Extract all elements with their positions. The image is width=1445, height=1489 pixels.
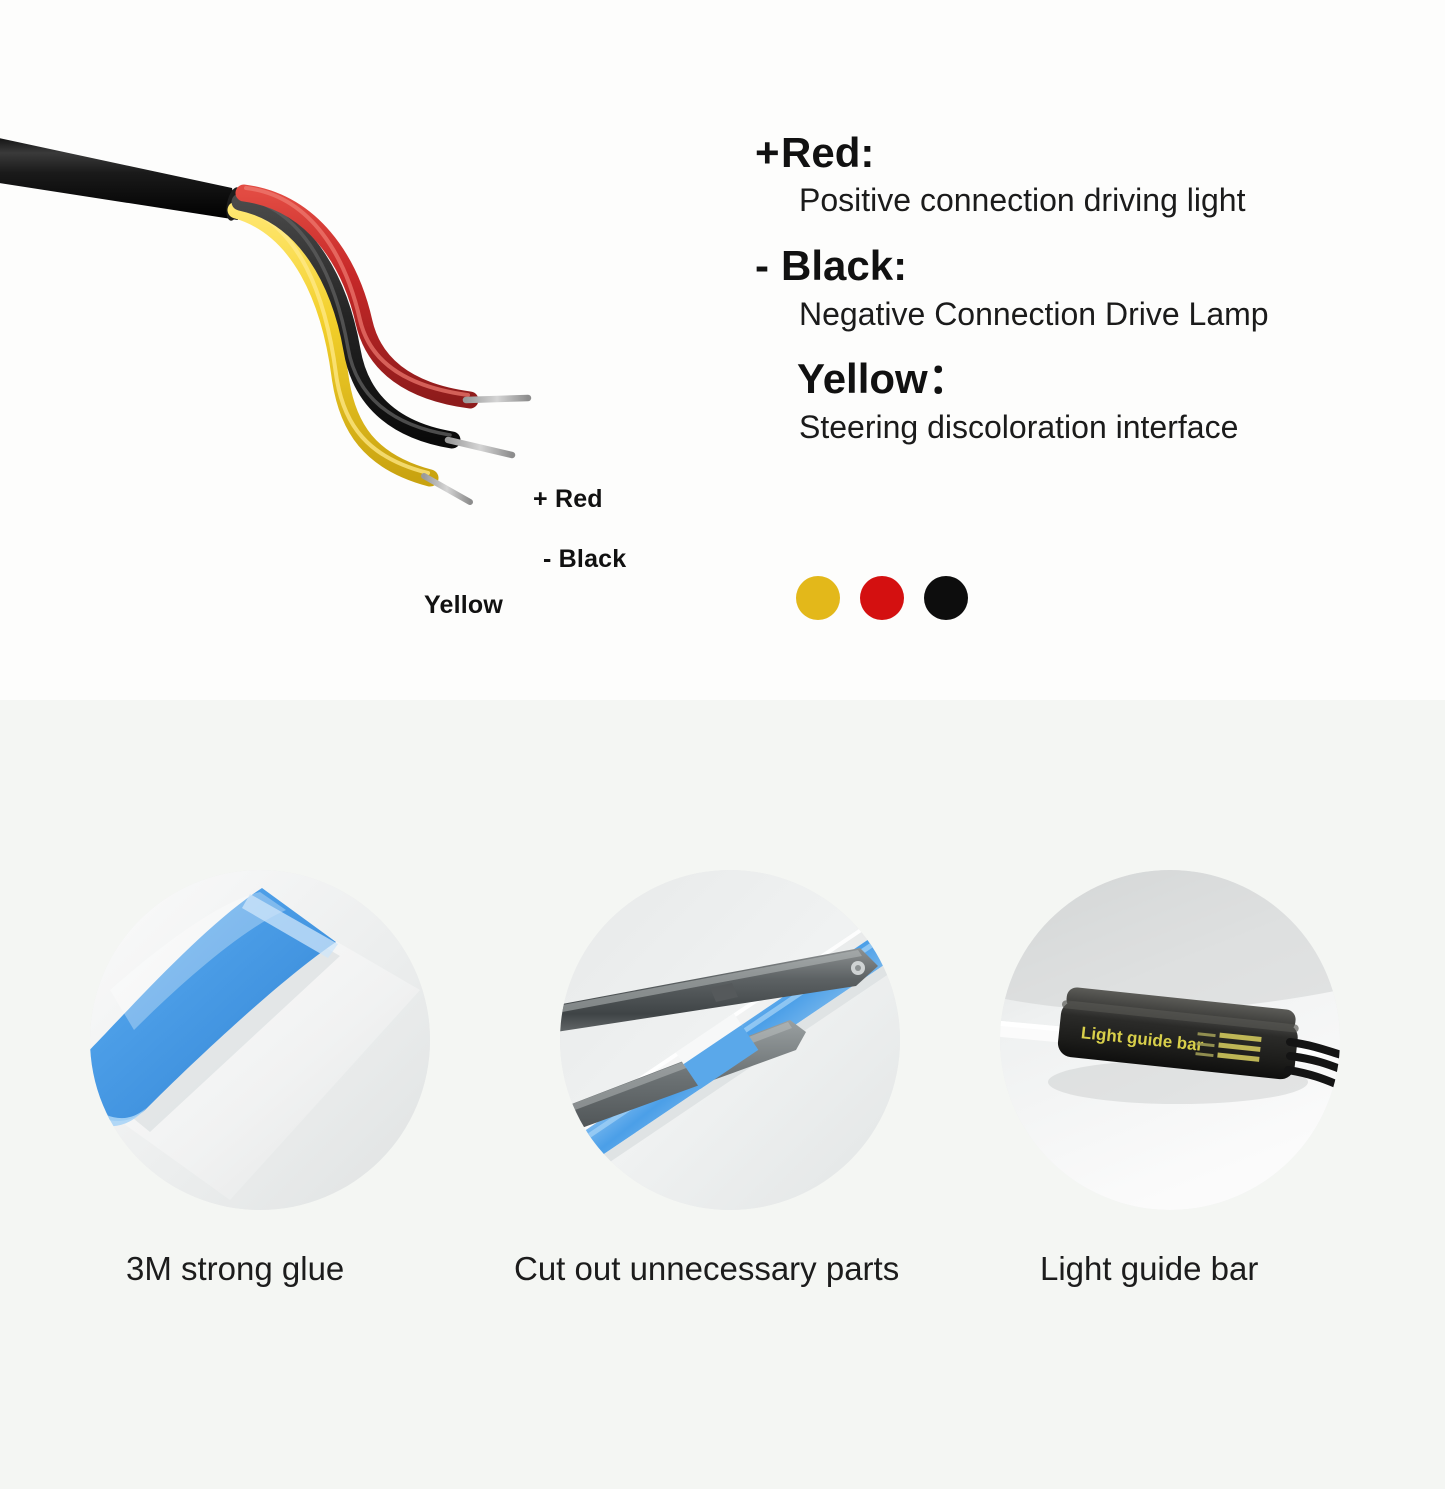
step-photo-cut-parts (560, 870, 900, 1210)
cable-sheath (0, 134, 238, 220)
legend-entry-black: -Black: Negative Connection Drive Lamp (755, 243, 1395, 332)
step-photo-3m-glue (90, 870, 430, 1210)
legend-entry-red: +Red: Positive connection driving light (755, 130, 1395, 219)
installation-steps-section: 3M strong glue (0, 700, 1445, 1489)
wiring-instructions-section: + Red - Black Yellow +Red: Positive conn… (0, 0, 1445, 700)
step-cut-parts: Cut out unnecessary parts (560, 870, 900, 1288)
legend-desc-black: Negative Connection Drive Lamp (755, 296, 1395, 333)
step-3m-glue: 3M strong glue (90, 870, 430, 1288)
yellow-wire-tip (424, 476, 470, 502)
wire-color-swatches (796, 576, 968, 620)
wire-legend-list: +Red: Positive connection driving light … (755, 130, 1395, 469)
legend-head-yellow: Yellow： (755, 356, 1395, 401)
step-photo-light-guide-bar: Light guide bar (1000, 870, 1340, 1210)
swatch-red (860, 576, 904, 620)
legend-entry-yellow: Yellow： Steering discoloration interface (755, 356, 1395, 445)
product-infographic: + Red - Black Yellow +Red: Positive conn… (0, 0, 1445, 1489)
polarity-sign-negative: - (755, 243, 781, 288)
legend-head-red: +Red: (755, 130, 1395, 175)
wire-label-red: + Red (533, 485, 603, 514)
wire-label-black: - Black (543, 545, 626, 574)
step-caption-cut-parts: Cut out unnecessary parts (514, 1250, 900, 1288)
step-caption-3m-glue: 3M strong glue (90, 1250, 430, 1288)
wire-harness-illustration: + Red - Black Yellow (0, 110, 700, 530)
swatch-black (924, 576, 968, 620)
step-light-guide-bar: Light guide bar (1000, 870, 1340, 1288)
black-wire-tip (448, 440, 512, 455)
legend-title-black: Black: (781, 242, 907, 289)
wire-label-yellow: Yellow (424, 591, 503, 620)
legend-desc-red: Positive connection driving light (755, 182, 1395, 219)
step-caption-light-guide-bar: Light guide bar (1000, 1250, 1340, 1288)
polarity-sign-positive: + (755, 130, 781, 175)
swatch-yellow (796, 576, 840, 620)
legend-desc-yellow: Steering discoloration interface (755, 409, 1395, 446)
legend-head-black: -Black: (755, 243, 1395, 288)
legend-title-red: Red: (781, 129, 874, 176)
red-wire-tip (466, 398, 528, 400)
